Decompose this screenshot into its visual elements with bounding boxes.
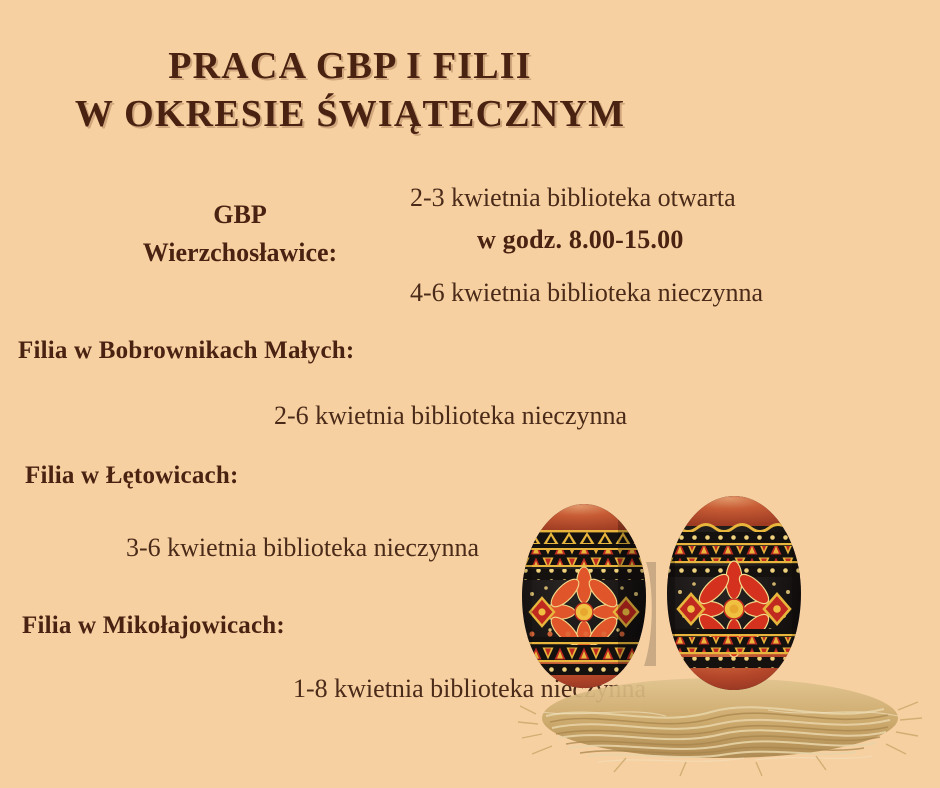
- easter-egg-right: [661, 488, 814, 698]
- gbp-open-hours: w godz. 8.00-15.00: [477, 225, 684, 255]
- gbp-open-dates: 2-3 kwietnia biblioteka otwarta: [410, 183, 736, 213]
- poster-title: PRACA GBP I FILII W OKRESIE ŚWIĄTECZNYM: [0, 44, 700, 137]
- title-line-2: W OKRESIE ŚWIĄTECZNYM: [0, 92, 700, 138]
- mikolajowice-closed-dates: 1-8 kwietnia biblioteka nieczynna: [293, 674, 646, 704]
- branch-label-gbp-wierzchoslawice: GBP Wierzchosławice:: [90, 196, 390, 273]
- title-line-1: PRACA GBP I FILII: [0, 44, 700, 90]
- diamond-motif-left: [530, 598, 638, 626]
- diamond-motif-right: [678, 594, 790, 624]
- flower-motif-right: [686, 561, 782, 657]
- branch-label-bobrowniki-male: Filia w Bobrownikach Małych:: [18, 337, 354, 365]
- gbp-closed-dates: 4-6 kwietnia biblioteka nieczynna: [410, 278, 763, 308]
- branch-label-mikolajowice: Filia w Mikołajowicach:: [22, 612, 285, 640]
- branch-label-letowice: Filia w Łętowicach:: [25, 462, 238, 490]
- easter-opening-hours-poster: PRACA GBP I FILII W OKRESIE ŚWIĄTECZNYM …: [0, 0, 940, 788]
- easter-eggs-illustration: [506, 466, 940, 788]
- branch-label-gbp-line-1: GBP: [90, 196, 390, 234]
- letowice-closed-dates: 3-6 kwietnia biblioteka nieczynna: [126, 533, 479, 563]
- flower-motif-left: [539, 567, 629, 657]
- easter-egg-left: [516, 494, 658, 694]
- branch-label-gbp-line-2: Wierzchosławice:: [90, 234, 390, 272]
- bobrowniki-closed-dates: 2-6 kwietnia biblioteka nieczynna: [274, 401, 627, 431]
